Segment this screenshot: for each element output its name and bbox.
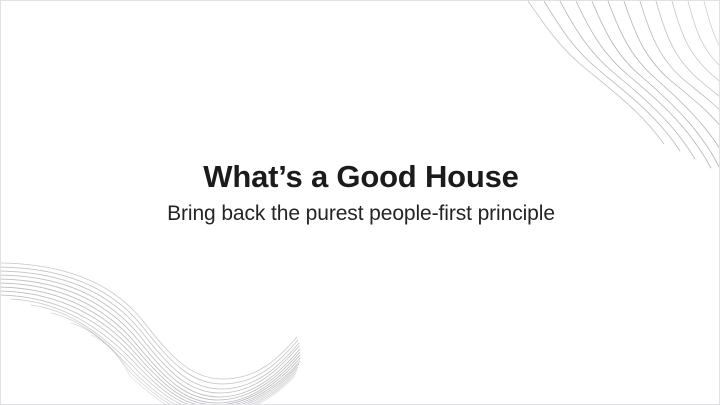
presentation-slide: What’s a Good House Bring back the pures… — [0, 0, 720, 405]
slide-title: What’s a Good House — [1, 158, 720, 196]
slide-subtitle: Bring back the purest people-first princ… — [1, 201, 720, 226]
bottom-left-wave-ribbon — [1, 263, 300, 405]
title-text-block: What’s a Good House Bring back the pures… — [1, 158, 720, 226]
top-right-line-fan — [528, 1, 720, 173]
